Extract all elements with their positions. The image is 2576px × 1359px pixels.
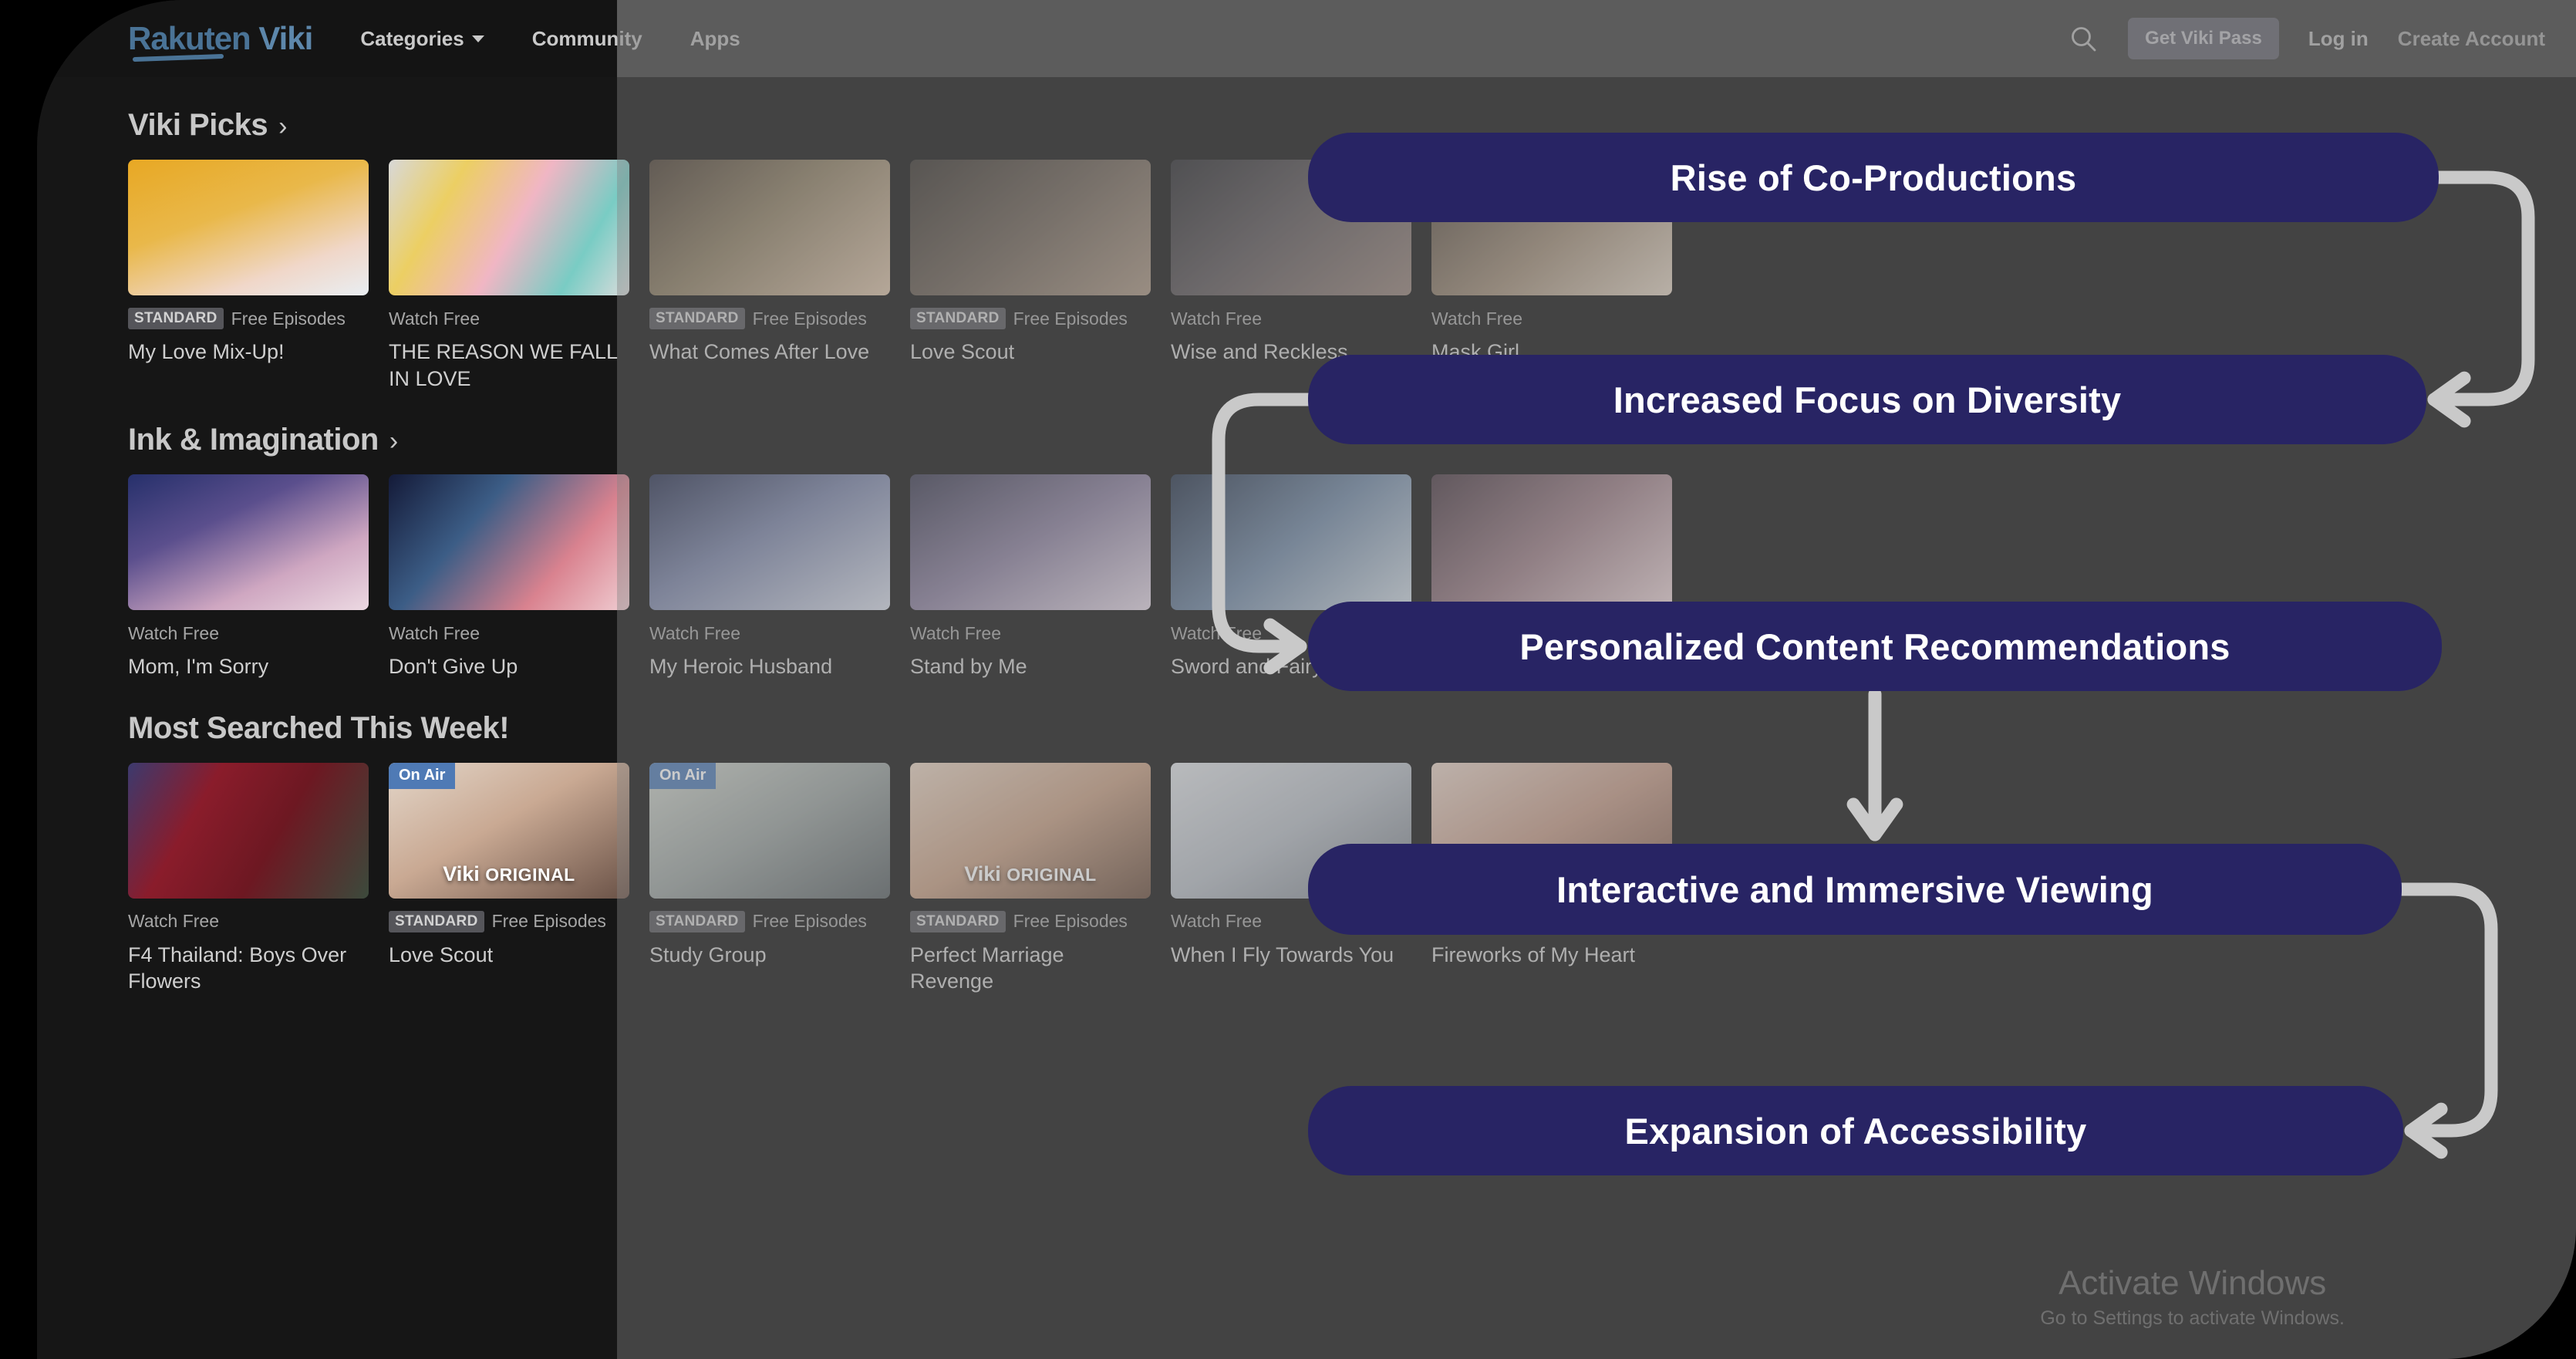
- card-artwork: [389, 474, 629, 610]
- card-artwork: [128, 160, 369, 295]
- card-artwork: [128, 474, 369, 610]
- chevron-right-icon[interactable]: ›: [278, 112, 287, 142]
- card-meta: Watch Free: [1171, 308, 1411, 329]
- card-title[interactable]: My Heroic Husband: [649, 653, 890, 680]
- flowchart-node[interactable]: Increased Focus on Diversity: [1308, 355, 2426, 444]
- card-meta: STANDARDFree Episodes: [389, 911, 629, 932]
- get-viki-pass-button[interactable]: Get Viki Pass: [2128, 18, 2279, 59]
- card-title[interactable]: Fireworks of My Heart: [1431, 942, 1672, 969]
- card-meta-text: Free Episodes: [753, 309, 867, 329]
- card-title[interactable]: THE REASON WE FALL IN LOVE: [389, 339, 629, 392]
- card-thumbnail[interactable]: [128, 474, 369, 610]
- content-card[interactable]: Watch FreeMom, I'm Sorry: [128, 474, 369, 680]
- card-thumbnail[interactable]: On AirViki ORIGINAL: [389, 763, 629, 899]
- viki-original-word: ORIGINAL: [485, 865, 575, 885]
- flowchart-node-label: Expansion of Accessibility: [1625, 1110, 2087, 1152]
- chevron-right-icon[interactable]: ›: [389, 427, 398, 457]
- login-link[interactable]: Log in: [2308, 27, 2369, 51]
- flowchart-node-label: Personalized Content Recommendations: [1519, 626, 2230, 668]
- card-meta: STANDARDFree Episodes: [910, 911, 1151, 932]
- content-card[interactable]: Watch FreeStand by Me: [910, 474, 1151, 680]
- nav-item-categories-label: Categories: [360, 27, 464, 51]
- card-title[interactable]: Study Group: [649, 942, 890, 969]
- card-meta-text: Watch Free: [910, 623, 1001, 644]
- card-title[interactable]: When I Fly Towards You: [1171, 942, 1411, 969]
- card-artwork: [128, 763, 369, 899]
- card-meta-text: Free Episodes: [1013, 309, 1128, 329]
- content-card[interactable]: STANDARDFree EpisodesMy Love Mix-Up!: [128, 160, 369, 392]
- card-meta: STANDARDFree Episodes: [910, 308, 1151, 329]
- nav-item-apps-label: Apps: [690, 27, 740, 51]
- flowchart-node[interactable]: Rise of Co-Productions: [1308, 133, 2439, 222]
- nav-item-community-label: Community: [532, 27, 642, 51]
- card-artwork: [910, 474, 1151, 610]
- card-title[interactable]: Love Scout: [910, 339, 1151, 366]
- card-title[interactable]: My Love Mix-Up!: [128, 339, 369, 366]
- content-card[interactable]: On AirViki ORIGINALSTANDARDFree Episodes…: [389, 763, 629, 995]
- row-title[interactable]: Most Searched This Week!: [128, 711, 2576, 746]
- connector-line: [2411, 1109, 2441, 1152]
- flowchart-node-label: Rise of Co-Productions: [1671, 157, 2077, 199]
- nav-item-apps[interactable]: Apps: [690, 27, 740, 51]
- card-thumbnail[interactable]: [649, 160, 890, 295]
- standard-badge: STANDARD: [910, 308, 1006, 329]
- card-thumbnail[interactable]: [128, 763, 369, 899]
- card-meta-text: Free Episodes: [1013, 911, 1128, 932]
- row-title-label: Viki Picks: [128, 108, 268, 143]
- nav-item-categories[interactable]: Categories: [360, 27, 484, 51]
- nav-item-community[interactable]: Community: [532, 27, 642, 51]
- card-meta-text: Watch Free: [1431, 309, 1522, 329]
- chevron-down-icon: [472, 35, 484, 42]
- card-title[interactable]: Perfect Marriage Revenge: [910, 942, 1151, 995]
- card-meta: STANDARDFree Episodes: [649, 911, 890, 932]
- card-thumbnail[interactable]: [649, 474, 890, 610]
- card-meta-text: Watch Free: [1171, 309, 1262, 329]
- card-artwork: [1171, 474, 1411, 610]
- content-card[interactable]: Viki ORIGINALSTANDARDFree EpisodesPerfec…: [910, 763, 1151, 995]
- viki-original-word: ORIGINAL: [1006, 865, 1096, 885]
- content-card[interactable]: STANDARDFree EpisodesWhat Comes After Lo…: [649, 160, 890, 392]
- card-meta: STANDARDFree Episodes: [128, 308, 369, 329]
- content-card[interactable]: On AirSTANDARDFree EpisodesStudy Group: [649, 763, 890, 995]
- standard-badge: STANDARD: [389, 911, 484, 932]
- standard-badge: STANDARD: [910, 911, 1006, 932]
- standard-badge: STANDARD: [649, 911, 745, 932]
- windows-activation-watermark: Activate Windows Go to Settings to activ…: [2040, 1264, 2345, 1330]
- card-meta-text: Free Episodes: [231, 309, 346, 329]
- card-meta: Watch Free: [128, 911, 369, 932]
- card-meta: Watch Free: [128, 622, 369, 644]
- card-meta-text: Watch Free: [389, 309, 480, 329]
- nav-right-group: Get Viki Pass Log in Create Account: [2068, 18, 2545, 59]
- brand-viki: Viki: [258, 20, 312, 56]
- search-icon[interactable]: [2068, 23, 2099, 54]
- card-artwork: [389, 160, 629, 295]
- card-thumbnail[interactable]: [910, 160, 1151, 295]
- card-thumbnail[interactable]: [1171, 474, 1411, 610]
- row-title-label: Ink & Imagination: [128, 423, 379, 457]
- card-meta-text: Watch Free: [649, 623, 740, 644]
- card-artwork: [649, 160, 890, 295]
- card-title[interactable]: Mom, I'm Sorry: [128, 653, 369, 680]
- card-meta: Watch Free: [910, 622, 1151, 644]
- card-thumbnail[interactable]: [389, 474, 629, 610]
- flowchart-node-label: Interactive and Immersive Viewing: [1556, 868, 2153, 911]
- card-title[interactable]: Love Scout: [389, 942, 629, 969]
- card-meta-text: Watch Free: [1171, 623, 1262, 644]
- card-thumbnail[interactable]: Viki ORIGINAL: [910, 763, 1151, 899]
- on-air-badge: On Air: [649, 763, 716, 789]
- card-meta-text: Watch Free: [389, 623, 480, 644]
- card-meta: Watch Free: [649, 622, 890, 644]
- card-artwork: [1431, 474, 1672, 610]
- card-thumbnail[interactable]: [128, 160, 369, 295]
- card-meta: Watch Free: [1431, 308, 1672, 329]
- card-thumbnail[interactable]: [389, 160, 629, 295]
- card-artwork: [649, 474, 890, 610]
- card-meta: Watch Free: [389, 308, 629, 329]
- content-card[interactable]: Watch FreeF4 Thailand: Boys Over Flowers: [128, 763, 369, 995]
- standard-badge: STANDARD: [128, 308, 224, 329]
- rakuten-viki-logo[interactable]: Rakuten Viki: [128, 20, 312, 57]
- content-card[interactable]: Watch FreeDon't Give Up: [389, 474, 629, 680]
- on-air-badge: On Air: [389, 763, 455, 789]
- card-thumbnail[interactable]: [910, 474, 1151, 610]
- card-thumbnail[interactable]: [1431, 474, 1672, 610]
- watermark-line-2: Go to Settings to activate Windows.: [2040, 1307, 2345, 1330]
- flowchart-node-label: Increased Focus on Diversity: [1613, 379, 2122, 421]
- card-title[interactable]: Stand by Me: [910, 653, 1151, 680]
- card-title[interactable]: What Comes After Love: [649, 339, 890, 366]
- card-title[interactable]: F4 Thailand: Boys Over Flowers: [128, 942, 369, 995]
- content-card[interactable]: Watch FreeTHE REASON WE FALL IN LOVE: [389, 160, 629, 392]
- card-thumbnail[interactable]: On Air: [649, 763, 890, 899]
- card-meta-text: Watch Free: [1171, 911, 1262, 932]
- brand-rakuten: Rakuten: [128, 20, 251, 56]
- create-account-link[interactable]: Create Account: [2398, 27, 2545, 51]
- card-title[interactable]: Don't Give Up: [389, 653, 629, 680]
- browser-frame: Rakuten Viki Categories Community Apps: [0, 0, 2576, 1359]
- watermark-line-1: Activate Windows: [2040, 1264, 2345, 1303]
- card-artwork: [910, 160, 1151, 295]
- card-meta: Watch Free: [389, 622, 629, 644]
- top-navbar: Rakuten Viki Categories Community Apps: [37, 0, 2576, 77]
- viki-original-brand: Viki: [443, 862, 480, 885]
- viki-page: Rakuten Viki Categories Community Apps: [37, 0, 2576, 1359]
- card-meta-text: Free Episodes: [753, 911, 867, 932]
- card-meta-text: Watch Free: [128, 911, 219, 932]
- nav-links: Categories Community Apps: [360, 27, 740, 51]
- content-card[interactable]: Watch FreeMy Heroic Husband: [649, 474, 890, 680]
- viki-original-brand: Viki: [964, 862, 1001, 885]
- flowchart-node[interactable]: Interactive and Immersive Viewing: [1308, 844, 2402, 935]
- viki-original-label: Viki ORIGINAL: [910, 862, 1151, 886]
- card-meta: STANDARDFree Episodes: [649, 308, 890, 329]
- flowchart-node[interactable]: Personalized Content Recommendations: [1308, 602, 2442, 691]
- viki-original-label: Viki ORIGINAL: [389, 862, 629, 886]
- standard-badge: STANDARD: [649, 308, 745, 329]
- card-meta-text: Free Episodes: [492, 911, 606, 932]
- row-title-label: Most Searched This Week!: [128, 711, 509, 746]
- content-card[interactable]: STANDARDFree EpisodesLove Scout: [910, 160, 1151, 392]
- card-meta-text: Watch Free: [128, 623, 219, 644]
- flowchart-node[interactable]: Expansion of Accessibility: [1308, 1086, 2403, 1175]
